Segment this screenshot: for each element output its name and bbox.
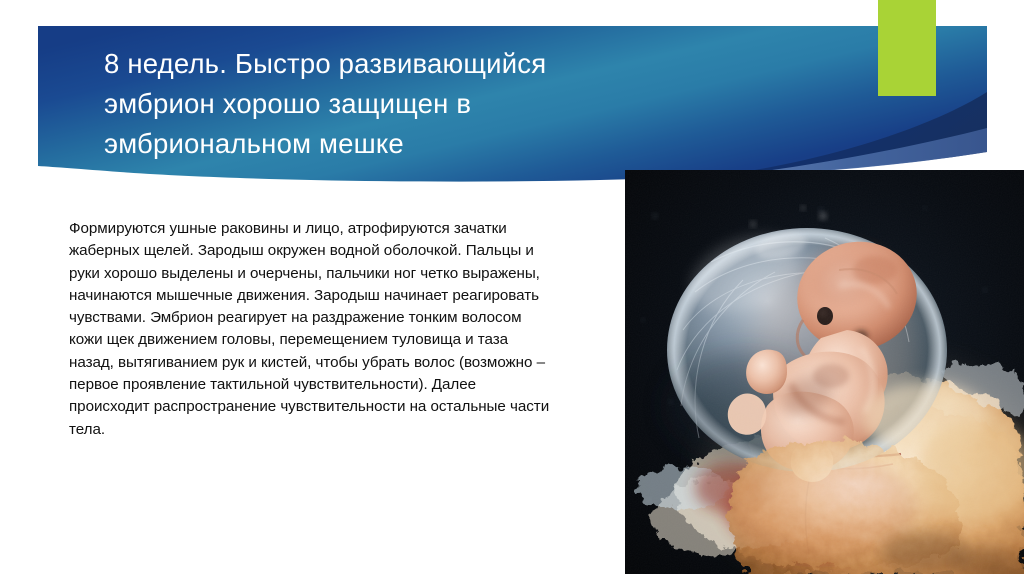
body-paragraph: Формируются ушные раковины и лицо, атроф… [69,218,557,441]
title-container: 8 недель. Быстро развивающийся эмбрион х… [104,44,804,174]
slide-canvas: 8 недель. Быстро развивающийся эмбрион х… [0,0,1024,574]
embryo-photo [625,170,1024,574]
green-accent-bar [878,0,936,96]
page-title: 8 недель. Быстро развивающийся эмбрион х… [104,44,804,164]
